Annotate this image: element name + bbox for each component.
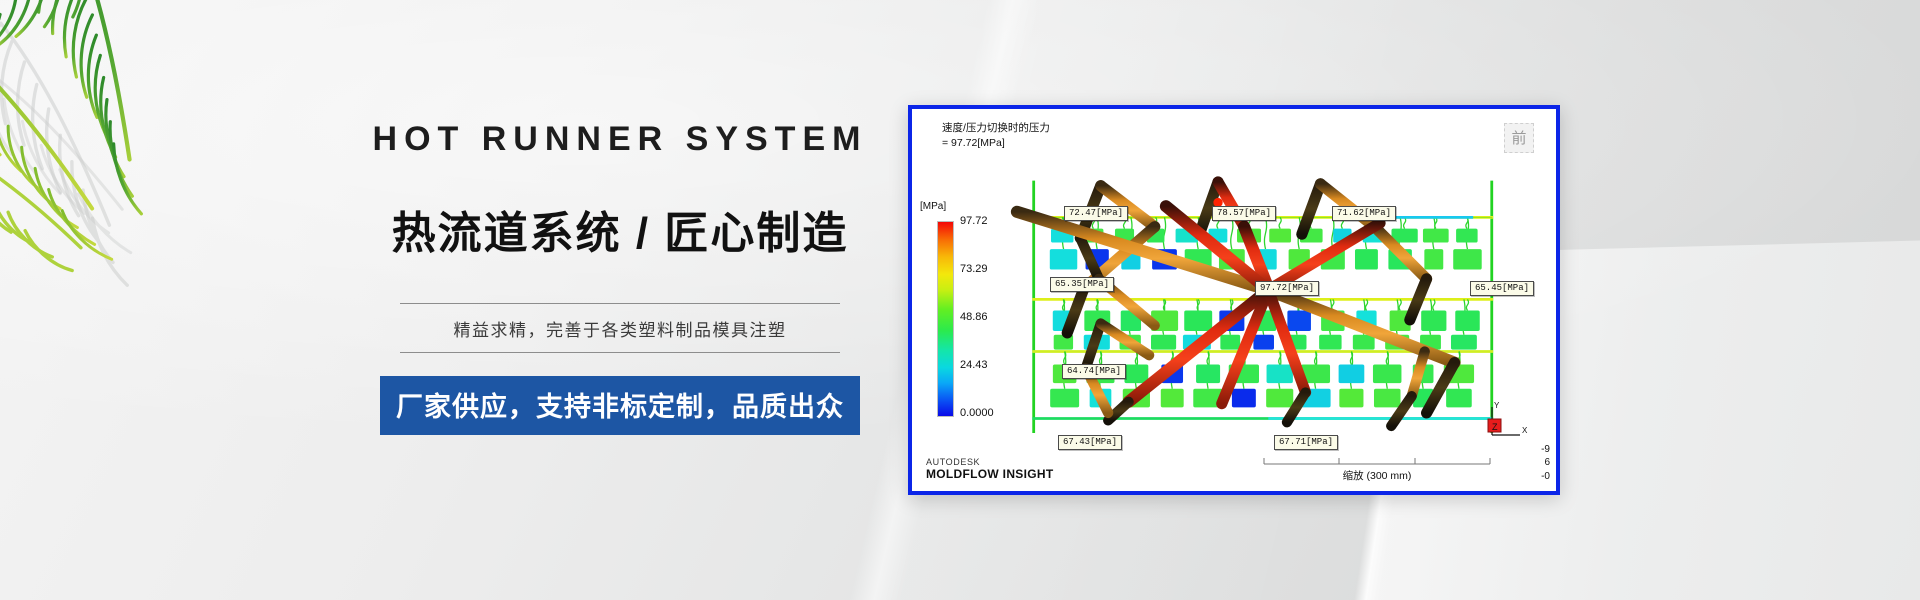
svg-text:Y: Y bbox=[1494, 401, 1500, 410]
scale-bar-label: 缩放 (300 mm) bbox=[1262, 468, 1492, 483]
hero-text-block: HOT RUNNER SYSTEM 热流道系统 / 匠心制造 精益求精，完善于各… bbox=[355, 120, 885, 435]
pressure-callout: 65.35[MPa] bbox=[1050, 277, 1114, 292]
page-subtitle: 精益求精，完善于各类塑料制品模具注塑 bbox=[355, 304, 885, 352]
divider-bottom bbox=[400, 352, 840, 353]
pressure-callout: 72.47[MPa] bbox=[1064, 206, 1128, 221]
moldflow-result-panel: 速度/压力切换时的压力 = 97.72[MPa] [MPa] 97.72 73.… bbox=[908, 105, 1560, 495]
autodesk-moldflow-brand: AUTODESK MOLDFLOW INSIGHT bbox=[926, 457, 1053, 481]
brand-moldflow-insight: MOLDFLOW INSIGHT bbox=[926, 467, 1053, 481]
palm-leaf-decoration bbox=[0, 0, 300, 330]
axis-value-x: -9 bbox=[1541, 443, 1550, 457]
axis-coordinate-values: -9 6 -0 bbox=[1541, 443, 1550, 484]
axis-triad-icon: Z Y X bbox=[1482, 399, 1528, 445]
pressure-callout: 78.57[MPa] bbox=[1212, 206, 1276, 221]
pressure-colorbar bbox=[937, 221, 954, 417]
pressure-callout: 67.71[MPa] bbox=[1274, 435, 1338, 450]
pressure-callout: 97.72[MPa] bbox=[1255, 281, 1319, 296]
analysis-title: 速度/压力切换时的压力 = 97.72[MPa] bbox=[942, 121, 1050, 151]
pressure-callout: 65.45[MPa] bbox=[1470, 281, 1534, 296]
pressure-callout: 71.62[MPa] bbox=[1332, 206, 1396, 221]
page-title: 热流道系统 / 匠心制造 bbox=[355, 197, 885, 261]
page-eyebrow: HOT RUNNER SYSTEM bbox=[355, 120, 885, 159]
colorbar-unit-label: [MPa] bbox=[920, 201, 946, 212]
pressure-callout: 67.43[MPa] bbox=[1058, 435, 1122, 450]
axis-value-z: -0 bbox=[1541, 470, 1550, 484]
pressure-callout: 64.74[MPa] bbox=[1062, 364, 1126, 379]
brand-autodesk: AUTODESK bbox=[926, 457, 1053, 467]
svg-text:Z: Z bbox=[1492, 422, 1498, 432]
axis-value-y: 6 bbox=[1541, 456, 1550, 470]
svg-text:X: X bbox=[1522, 426, 1528, 435]
scale-bar bbox=[1262, 455, 1492, 465]
view-orientation-watermark-icon: 前 bbox=[1504, 123, 1534, 153]
promo-banner: 厂家供应，支持非标定制，品质出众 bbox=[380, 376, 860, 435]
